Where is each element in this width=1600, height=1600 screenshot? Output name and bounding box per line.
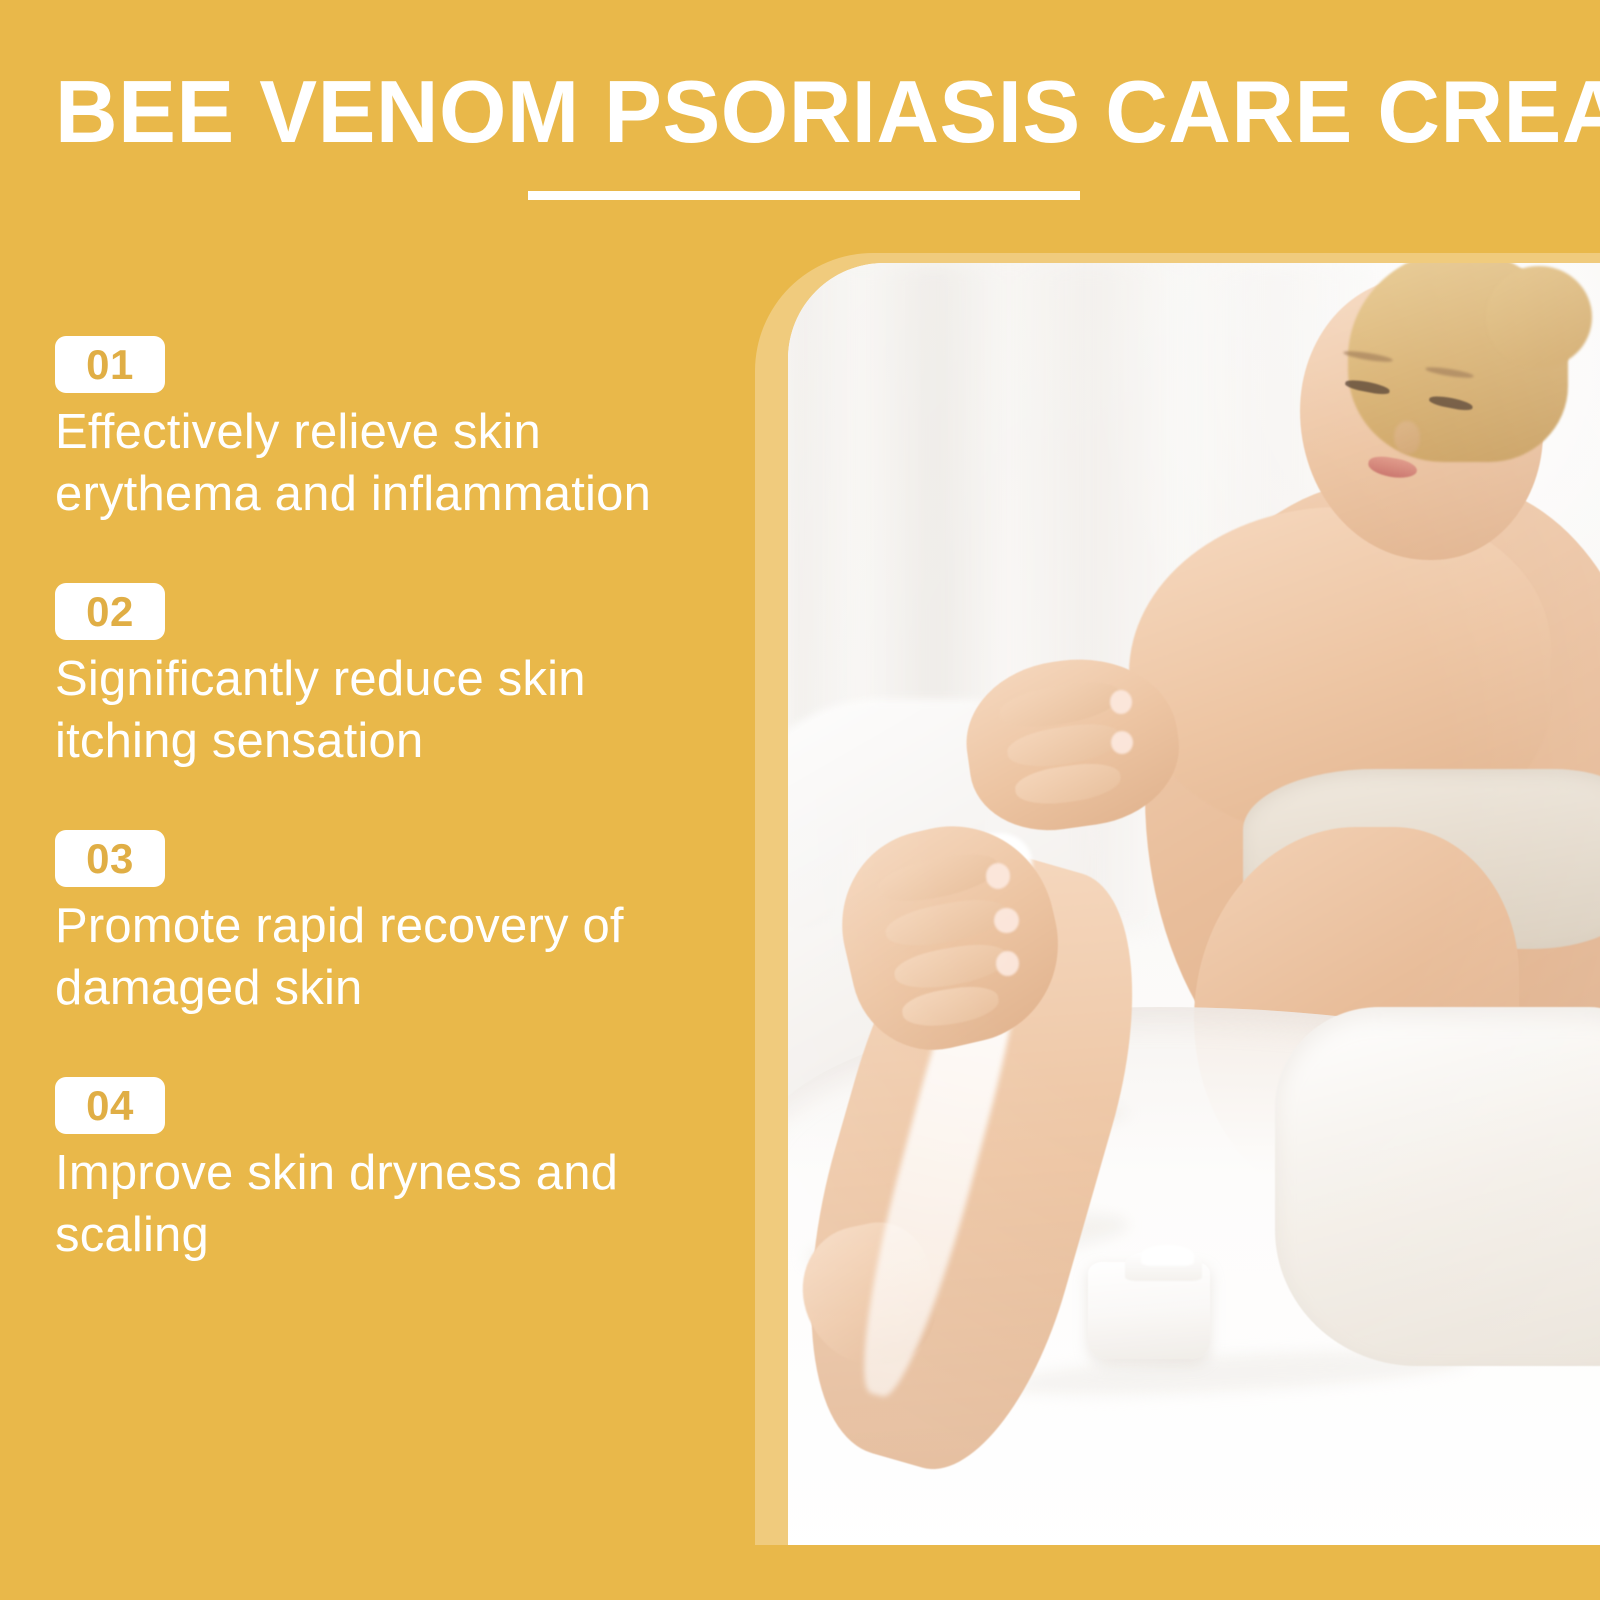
product-poster: BEE VENOM PSORIASIS CARE CREAM 01 Effect… <box>0 0 1600 1600</box>
list-item: 02 Significantly reduce skin itching sen… <box>55 583 715 772</box>
title-underline-rule <box>528 191 1080 200</box>
feature-text: Promote rapid recovery of damaged skin <box>55 895 695 1019</box>
feature-text: Significantly reduce skin itching sensat… <box>55 648 695 772</box>
feature-number-badge: 02 <box>55 583 165 640</box>
model-nose <box>1394 421 1420 454</box>
feature-number-badge: 01 <box>55 336 165 393</box>
page-title: BEE VENOM PSORIASIS CARE CREAM <box>55 66 1528 158</box>
model-fingernail <box>1111 731 1133 754</box>
model-fingernail <box>996 951 1019 975</box>
feature-text: Improve skin dryness and scaling <box>55 1142 695 1266</box>
feature-number-badge: 03 <box>55 830 165 887</box>
list-item: 04 Improve skin dryness and scaling <box>55 1077 715 1266</box>
photo-scene <box>788 263 1600 1545</box>
product-photo <box>788 263 1600 1545</box>
model-fingernail <box>994 908 1018 934</box>
model-fingernail <box>986 863 1010 889</box>
feature-text: Effectively relieve skin erythema and in… <box>55 401 695 525</box>
feature-list: 01 Effectively relieve skin erythema and… <box>55 336 715 1266</box>
model-hair-bun <box>1486 266 1592 369</box>
list-item: 01 Effectively relieve skin erythema and… <box>55 336 715 525</box>
cream-jar-contents <box>1141 1245 1194 1266</box>
list-item: 03 Promote rapid recovery of damaged ski… <box>55 830 715 1019</box>
feature-number-badge: 04 <box>55 1077 165 1134</box>
towel-lap <box>1275 1007 1600 1366</box>
